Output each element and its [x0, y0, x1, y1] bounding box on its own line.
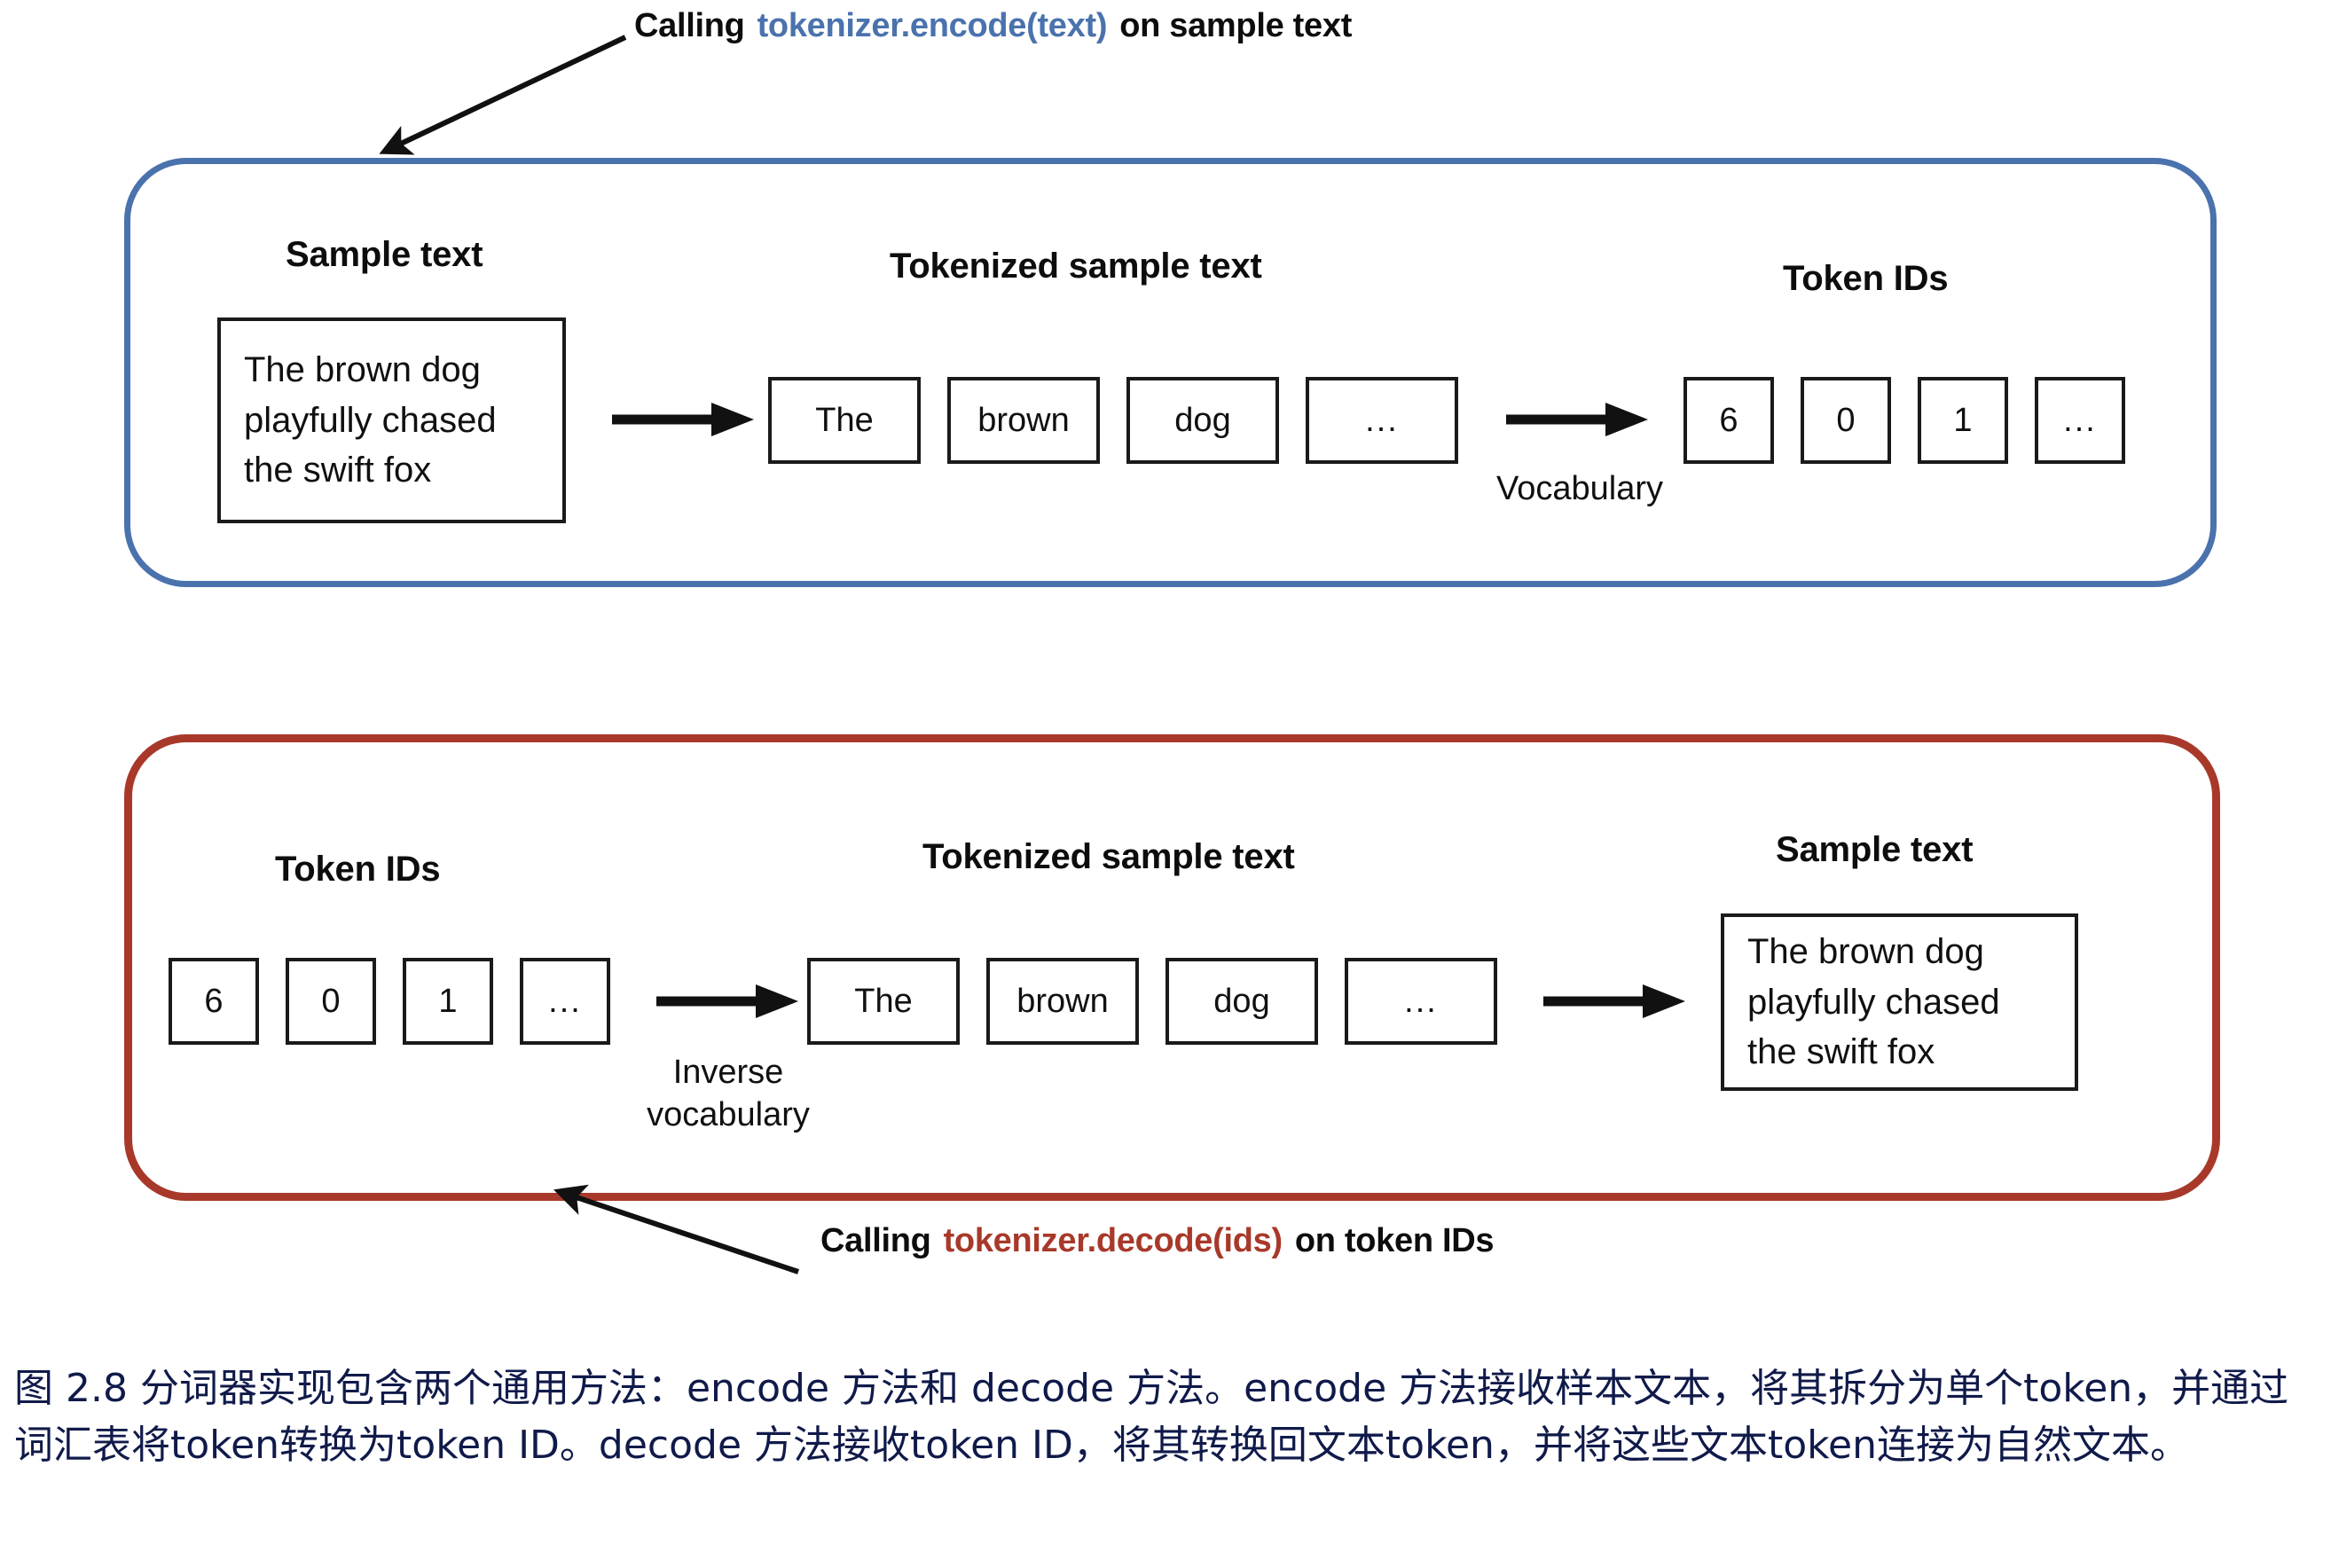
encode-token-box: dog: [1126, 377, 1279, 464]
decode-arrow-inverse-vocabulary: [656, 979, 803, 1023]
decode-callout-text: Callingtokenizer.decode(ids)on token IDs: [820, 1224, 1494, 1258]
decode-sample-text-box: The brown dog playfully chased the swift…: [1721, 913, 2078, 1091]
encode-token-ids-heading: Token IDs: [1783, 259, 1948, 299]
figure-caption: 图 2.8 分词器实现包含两个通用方法：encode 方法和 decode 方法…: [14, 1360, 2320, 1474]
encode-sample-text-heading: Sample text: [286, 235, 483, 275]
encode-callout-prefix: Calling: [634, 7, 745, 44]
decode-callout-suffix: on token IDs: [1295, 1222, 1494, 1259]
encode-callout-suffix: on sample text: [1119, 7, 1352, 44]
decode-token-ids-heading: Token IDs: [275, 850, 440, 890]
decode-sample-text-value: The brown dog playfully chased the swift…: [1747, 927, 2000, 1078]
encode-callout-text: Callingtokenizer.encode(text)on sample t…: [634, 9, 1352, 43]
decode-token-id-box: 1: [403, 958, 493, 1045]
encode-token-box-ellipsis: ...: [1306, 377, 1458, 464]
encode-arrow-vocabulary: [1506, 397, 1652, 442]
decode-token-id-box: 0: [286, 958, 376, 1045]
encode-token-id-box: 6: [1683, 377, 1774, 464]
encode-token-id-box: 1: [1918, 377, 2008, 464]
decode-pointer-arrow: [532, 1180, 825, 1295]
encode-token-id-box: 0: [1801, 377, 1891, 464]
encode-vocabulary-label: Vocabulary: [1451, 468, 1708, 511]
decode-arrow-detokenize: [1543, 979, 1690, 1023]
decode-token-box: dog: [1165, 958, 1318, 1045]
decode-token-box: The: [807, 958, 960, 1045]
encode-callout-code: tokenizer.encode(text): [757, 7, 1108, 44]
decode-token-id-box: 6: [169, 958, 259, 1045]
encode-token-id-box-ellipsis: ...: [2035, 377, 2125, 464]
decode-token-id-box-ellipsis: ...: [520, 958, 610, 1045]
encode-token-box: The: [768, 377, 921, 464]
decode-callout-code: tokenizer.decode(ids): [944, 1222, 1283, 1259]
decode-inverse-vocabulary-label: Inverse vocabulary: [600, 1052, 857, 1136]
encode-token-box: brown: [947, 377, 1100, 464]
decode-token-box: brown: [986, 958, 1139, 1045]
encode-sample-text-value: The brown dog playfully chased the swift…: [244, 345, 497, 496]
encode-sample-text-box: The brown dog playfully chased the swift…: [217, 318, 566, 523]
encode-arrow-tokenize: [612, 397, 758, 442]
decode-token-box-ellipsis: ...: [1345, 958, 1497, 1045]
decode-callout-prefix: Calling: [820, 1222, 931, 1259]
encode-pointer-arrow: [355, 27, 639, 169]
decode-tokenized-heading: Tokenized sample text: [922, 837, 1295, 877]
decode-sample-text-heading: Sample text: [1776, 830, 1973, 870]
encode-tokenized-heading: Tokenized sample text: [890, 247, 1262, 286]
